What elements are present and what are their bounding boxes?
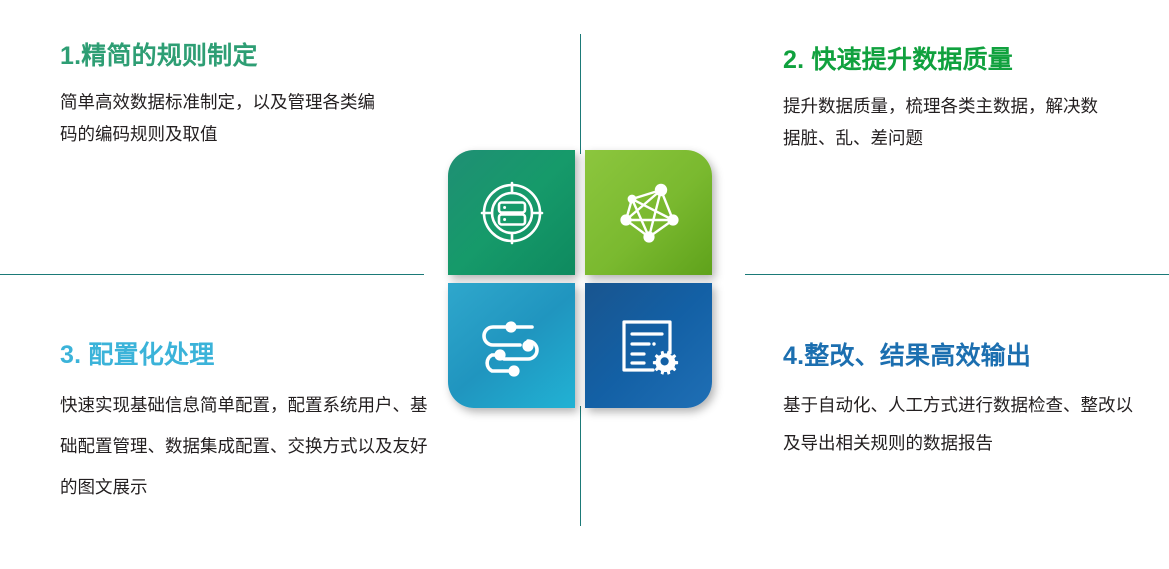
divider-vertical-top — [580, 34, 581, 154]
quadrant-4-body: 基于自动化、人工方式进行数据检查、整改以及导出相关规则的数据报告 — [783, 386, 1133, 462]
target-database-icon — [476, 177, 548, 249]
divider-vertical-bottom — [580, 406, 581, 526]
quadrant-4-title: 4.整改、结果高效输出 — [783, 336, 1133, 372]
quadrant-1: 1.精简的规则制定 简单高效数据标准制定，以及管理各类编码的编码规则及取值 — [60, 36, 390, 150]
quadrant-3-body: 快速实现基础信息简单配置，配置系统用户、基础配置管理、数据集成配置、交换方式以及… — [60, 385, 435, 508]
quadrant-2-title: 2. 快速提升数据质量 — [783, 40, 1113, 76]
quadrant-2-body: 提升数据质量，梳理各类主数据，解决数据脏、乱、差问题 — [783, 90, 1113, 154]
divider-horizontal-right — [745, 274, 1169, 275]
quadrant-3-title: 3. 配置化处理 — [60, 335, 435, 371]
tile-rule-definition[interactable] — [448, 150, 575, 275]
document-gear-icon — [613, 310, 685, 382]
tile-configuration[interactable] — [448, 283, 575, 408]
divider-horizontal-left — [0, 274, 424, 275]
icon-tile-cluster — [448, 150, 712, 408]
quadrant-3: 3. 配置化处理 快速实现基础信息简单配置，配置系统用户、基础配置管理、数据集成… — [60, 335, 435, 508]
quadrant-4: 4.整改、结果高效输出 基于自动化、人工方式进行数据检查、整改以及导出相关规则的… — [783, 336, 1133, 462]
quadrant-1-title: 1.精简的规则制定 — [60, 36, 390, 72]
tile-output-report[interactable] — [585, 283, 712, 408]
tile-data-quality[interactable] — [585, 150, 712, 275]
network-graph-icon — [613, 177, 685, 249]
quadrant-1-body: 简单高效数据标准制定，以及管理各类编码的编码规则及取值 — [60, 86, 390, 150]
quadrant-2: 2. 快速提升数据质量 提升数据质量，梳理各类主数据，解决数据脏、乱、差问题 — [783, 40, 1113, 154]
process-flow-icon — [476, 310, 548, 382]
